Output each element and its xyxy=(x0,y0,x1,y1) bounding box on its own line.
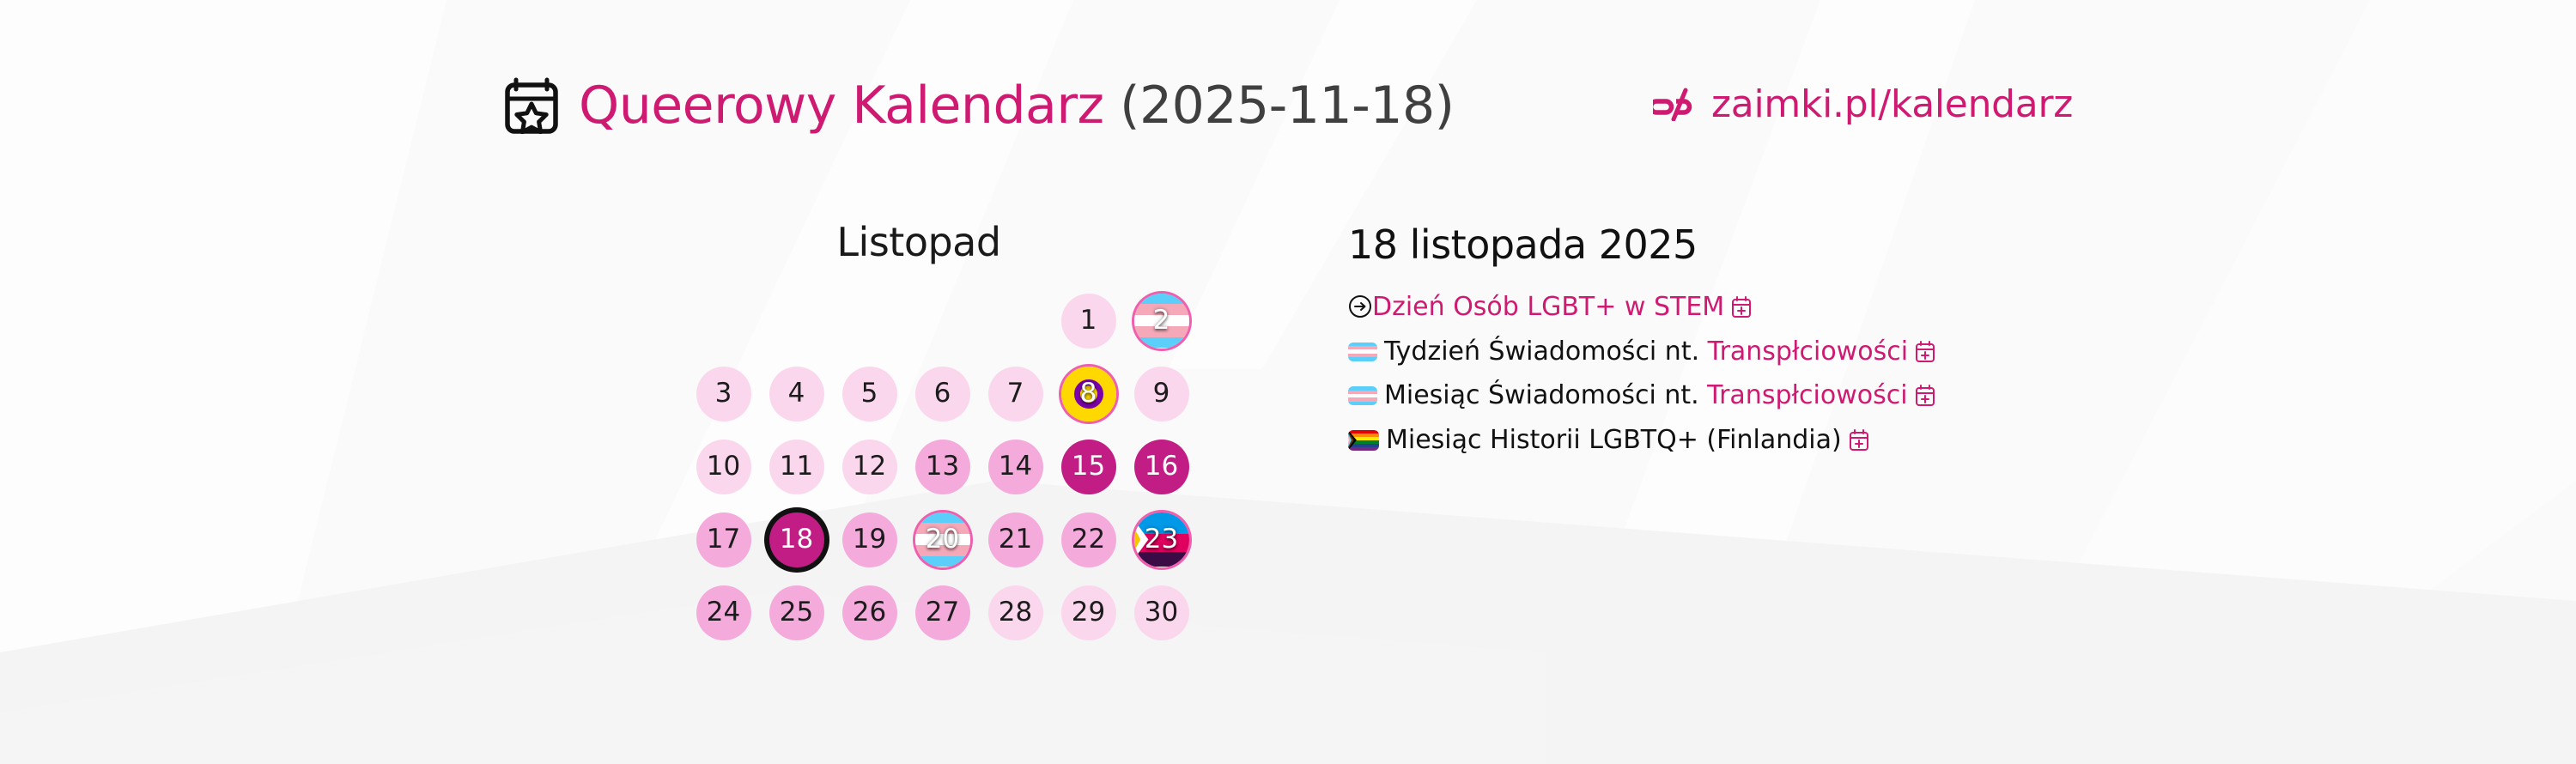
day-number: 2 xyxy=(1153,307,1170,334)
day-cell: 2 xyxy=(1125,284,1198,357)
calendar-plus-icon[interactable] xyxy=(1915,385,1935,407)
day-cell: 5 xyxy=(833,357,906,430)
day-2[interactable]: 2 xyxy=(1134,294,1189,349)
day-29[interactable]: 29 xyxy=(1061,585,1116,640)
day-number: 27 xyxy=(926,599,959,626)
day-number: 22 xyxy=(1072,526,1105,553)
day-number: 30 xyxy=(1145,599,1178,626)
selected-date-heading: 18 listopada 2025 xyxy=(1348,221,2379,268)
day-cell: 15 xyxy=(1052,430,1125,503)
day-cell: 23 xyxy=(1125,503,1198,576)
event-label[interactable]: Dzień Osób LGBT+ w STEM xyxy=(1372,292,1724,322)
day-cell: 16 xyxy=(1125,430,1198,503)
day-24[interactable]: 24 xyxy=(696,585,751,640)
progress-pride-flag-icon xyxy=(1348,430,1379,451)
day-cell: 21 xyxy=(979,503,1052,576)
day-25[interactable]: 25 xyxy=(769,585,824,640)
day-7[interactable]: 7 xyxy=(988,367,1043,421)
day-number: 23 xyxy=(1145,526,1178,553)
day-number: 25 xyxy=(780,599,813,626)
page-title: Queerowy Kalendarz (2025-11-18) xyxy=(579,80,1455,131)
day-number: 5 xyxy=(861,380,878,407)
day-18[interactable]: 18 xyxy=(769,512,824,567)
day-cell: 19 xyxy=(833,503,906,576)
calendar-plus-icon[interactable] xyxy=(1915,341,1935,363)
calendar-star-icon xyxy=(505,77,558,134)
month-calendar: Listopad 1234567891011121314151617181920… xyxy=(670,219,1202,649)
event-label: Miesiąc Świadomości nt. xyxy=(1384,380,1707,410)
day-number: 1 xyxy=(1080,307,1097,334)
day-cell: 22 xyxy=(1052,503,1125,576)
event-item[interactable]: Miesiąc Świadomości nt. Transpłciowości xyxy=(1348,379,2379,413)
event-label-link[interactable]: Transpłciowości xyxy=(1707,380,1907,410)
day-cell: 18 xyxy=(760,503,833,576)
day-8[interactable]: 8 xyxy=(1061,367,1116,421)
day-number: 13 xyxy=(926,453,959,480)
day-13[interactable]: 13 xyxy=(915,440,970,494)
day-number: 24 xyxy=(707,599,740,626)
calendar-plus-icon[interactable] xyxy=(1731,296,1752,318)
month-label: Listopad xyxy=(670,219,1202,265)
event-list: Dzień Osób LGBT+ w STEMTydzień Świadomoś… xyxy=(1348,290,2379,457)
day-cell: 20 xyxy=(906,503,979,576)
day-number: 16 xyxy=(1145,453,1178,480)
day-cell: 26 xyxy=(833,576,906,649)
day-cell: 6 xyxy=(906,357,979,430)
day-number: 7 xyxy=(1007,380,1024,407)
day-cell: 12 xyxy=(833,430,906,503)
calendar-page: Queerowy Kalendarz (2025-11-18) zaimki.p… xyxy=(0,0,2576,764)
day-27[interactable]: 27 xyxy=(915,585,970,640)
day-cell: 9 xyxy=(1125,357,1198,430)
brand-url-label[interactable]: zaimki.pl/kalendarz xyxy=(1711,82,2073,126)
day-number: 10 xyxy=(707,453,740,480)
day-number: 14 xyxy=(999,453,1032,480)
day-detail-panel: 18 listopada 2025 Dzień Osób LGBT+ w STE… xyxy=(1348,221,2379,467)
day-4[interactable]: 4 xyxy=(769,367,824,421)
page-header: Queerowy Kalendarz (2025-11-18) zaimki.p… xyxy=(0,67,2576,144)
day-number: 12 xyxy=(853,453,886,480)
day-number: 20 xyxy=(926,526,959,553)
day-cell: 4 xyxy=(760,357,833,430)
day-5[interactable]: 5 xyxy=(842,367,897,421)
event-label: Tydzień Świadomości nt. xyxy=(1384,337,1708,367)
day-cell: 3 xyxy=(687,357,760,430)
day-number: 3 xyxy=(715,380,732,407)
page-title-date: (2025-11-18) xyxy=(1120,76,1455,136)
day-cell: 10 xyxy=(687,430,760,503)
day-number: 11 xyxy=(780,453,813,480)
event-item[interactable]: Dzień Osób LGBT+ w STEM xyxy=(1348,290,2379,324)
arrow-circle-icon xyxy=(1348,294,1372,318)
day-number: 9 xyxy=(1153,380,1170,407)
day-number: 6 xyxy=(934,380,951,407)
brand-group[interactable]: zaimki.pl/kalendarz xyxy=(1653,72,2073,136)
day-cell: 30 xyxy=(1125,576,1198,649)
day-cell: 25 xyxy=(760,576,833,649)
day-cell: 17 xyxy=(687,503,760,576)
event-label-link[interactable]: Transpłciowości xyxy=(1708,337,1908,367)
day-cell: 11 xyxy=(760,430,833,503)
day-1[interactable]: 1 xyxy=(1061,294,1116,349)
day-23[interactable]: 23 xyxy=(1134,512,1189,567)
trans-flag-icon xyxy=(1348,343,1377,361)
day-6[interactable]: 6 xyxy=(915,367,970,421)
day-number: 18 xyxy=(780,526,813,553)
event-item[interactable]: Miesiąc Historii LGBTQ+ (Finlandia) xyxy=(1348,423,2379,458)
event-item[interactable]: Tydzień Świadomości nt. Transpłciowości xyxy=(1348,335,2379,369)
day-grid: 1234567891011121314151617181920212223242… xyxy=(687,284,1198,649)
day-21[interactable]: 21 xyxy=(988,512,1043,567)
day-number: 28 xyxy=(999,599,1032,626)
day-cell: 13 xyxy=(906,430,979,503)
calendar-plus-icon[interactable] xyxy=(1849,429,1869,452)
day-cell: 29 xyxy=(1052,576,1125,649)
day-28[interactable]: 28 xyxy=(988,585,1043,640)
day-number: 8 xyxy=(1080,380,1097,407)
day-17[interactable]: 17 xyxy=(696,512,751,567)
trans-flag-icon xyxy=(1348,386,1377,405)
day-15[interactable]: 15 xyxy=(1061,440,1116,494)
day-number: 15 xyxy=(1072,453,1105,480)
day-number: 26 xyxy=(853,599,886,626)
day-number: 29 xyxy=(1072,599,1105,626)
page-title-main: Queerowy Kalendarz xyxy=(579,76,1103,136)
day-cell: 8 xyxy=(1052,357,1125,430)
day-26[interactable]: 26 xyxy=(842,585,897,640)
day-number: 4 xyxy=(788,380,805,407)
day-20[interactable]: 20 xyxy=(915,512,970,567)
day-12[interactable]: 12 xyxy=(842,440,897,494)
day-16[interactable]: 16 xyxy=(1134,440,1189,494)
day-cell: 1 xyxy=(1052,284,1125,357)
day-cell: 14 xyxy=(979,430,1052,503)
day-11[interactable]: 11 xyxy=(769,440,824,494)
day-14[interactable]: 14 xyxy=(988,440,1043,494)
day-cell: 7 xyxy=(979,357,1052,430)
title-group: Queerowy Kalendarz (2025-11-18) xyxy=(505,67,1455,144)
day-9[interactable]: 9 xyxy=(1134,367,1189,421)
day-number: 17 xyxy=(707,526,740,553)
event-label: Miesiąc Historii LGBTQ+ (Finlandia) xyxy=(1386,425,1842,455)
day-number: 19 xyxy=(853,526,886,553)
day-30[interactable]: 30 xyxy=(1134,585,1189,640)
day-22[interactable]: 22 xyxy=(1061,512,1116,567)
day-10[interactable]: 10 xyxy=(696,440,751,494)
day-19[interactable]: 19 xyxy=(842,512,897,567)
day-cell: 24 xyxy=(687,576,760,649)
zaimki-logo-icon xyxy=(1653,87,1692,121)
day-number: 21 xyxy=(999,526,1032,553)
day-3[interactable]: 3 xyxy=(696,367,751,421)
day-cell: 28 xyxy=(979,576,1052,649)
day-cell: 27 xyxy=(906,576,979,649)
